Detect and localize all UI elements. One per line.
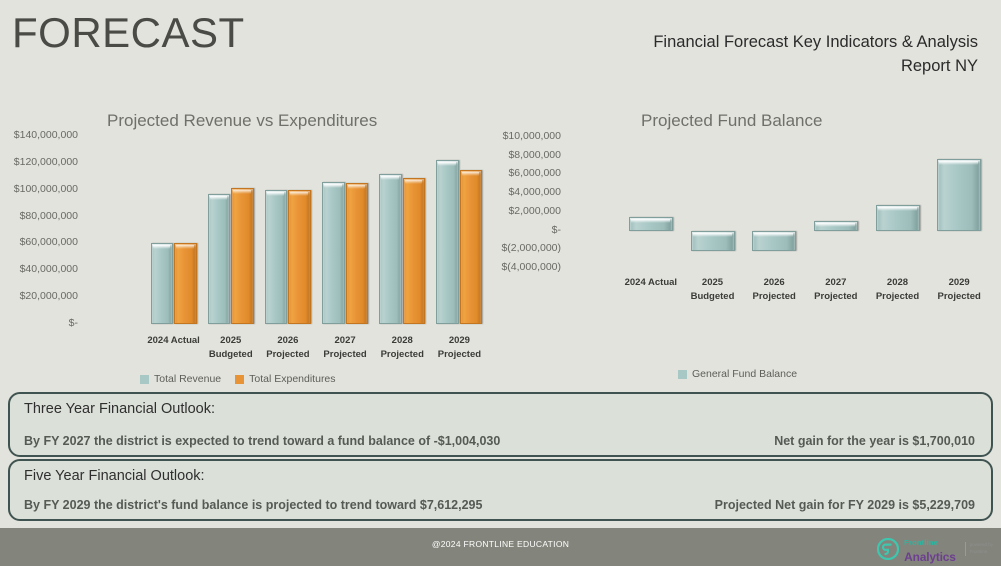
frontline-logo-text: Frontline Analytics — [904, 533, 956, 565]
chart-title-projected-fund-balance: Projected Fund Balance — [641, 111, 822, 131]
bar-general-fund-balance — [937, 159, 981, 230]
bar-general-fund-balance — [814, 221, 858, 230]
bar-total-revenue — [151, 243, 174, 324]
dashboard-page: FORECAST Financial Forecast Key Indicato… — [0, 0, 1001, 566]
bar-total-expenditures — [460, 170, 483, 324]
chart2-yaxis-tick: $- — [483, 224, 561, 236]
chart2-yaxis-tick: $4,000,000 — [483, 186, 561, 198]
chart1-yaxis-tick: $80,000,000 — [0, 210, 78, 222]
chart1-yaxis-tick: $20,000,000 — [0, 290, 78, 302]
three-year-outlook-box: Three Year Financial Outlook: By FY 2027… — [8, 392, 993, 457]
frontline-analytics-logo: Frontline Analytics powered byFrontline — [877, 533, 993, 565]
chart2-yaxis-tick: $8,000,000 — [483, 149, 561, 161]
five-year-outlook-net-gain: Projected Net gain for FY 2029 is $5,229… — [715, 498, 975, 512]
footer-copyright: @2024 FRONTLINE EDUCATION — [0, 539, 1001, 549]
chart1-yaxis-tick: $- — [0, 317, 78, 329]
chart1-yaxis-tick: $40,000,000 — [0, 263, 78, 275]
category-label: 2025Budgeted — [202, 334, 259, 362]
bar-total-expenditures — [403, 178, 426, 324]
frontline-logo-icon — [877, 538, 899, 560]
bar-general-fund-balance — [691, 231, 735, 252]
chart2-yaxis-tick: $(4,000,000) — [483, 261, 561, 273]
legend-label: General Fund Balance — [692, 368, 797, 380]
chart2-yaxis-tick: $(2,000,000) — [483, 242, 561, 254]
legend-item-total-revenue[interactable]: Total Revenue — [140, 373, 221, 385]
legend-label: Total Revenue — [154, 373, 221, 385]
legend-swatch-icon — [235, 375, 244, 384]
five-year-outlook-statement: By FY 2029 the district's fund balance i… — [24, 498, 482, 512]
legend-label: Total Expenditures — [249, 373, 335, 385]
chart2-yaxis-tick: $2,000,000 — [483, 205, 561, 217]
category-label: 2029Projected — [928, 276, 990, 304]
bar-total-expenditures — [174, 243, 197, 324]
legend-swatch-icon — [140, 375, 149, 384]
chart-title-revenue-vs-expenditures: Projected Revenue vs Expenditures — [107, 111, 377, 131]
bar-total-revenue — [436, 160, 459, 324]
chart1-legend: Total RevenueTotal Expenditures — [140, 373, 336, 385]
bar-total-expenditures — [288, 190, 311, 324]
category-label: 2028Projected — [867, 276, 929, 304]
chart1-yaxis-tick: $60,000,000 — [0, 236, 78, 248]
five-year-outlook-box: Five Year Financial Outlook: By FY 2029 … — [8, 459, 993, 521]
header-subtitle-line2: Report NY — [653, 55, 978, 79]
five-year-outlook-heading: Five Year Financial Outlook: — [24, 468, 205, 484]
header-subtitle: Financial Forecast Key Indicators & Anal… — [653, 31, 978, 79]
chart1-yaxis-tick: $120,000,000 — [0, 156, 78, 168]
bar-total-revenue — [322, 182, 345, 324]
chart2-yaxis-tick: $6,000,000 — [483, 167, 561, 179]
category-label: 2026Projected — [743, 276, 805, 304]
footer-bar: @2024 FRONTLINE EDUCATION Frontline Anal… — [0, 528, 1001, 566]
chart2-yaxis-tick: $10,000,000 — [483, 130, 561, 142]
category-label: 2024 Actual — [145, 334, 202, 348]
bar-total-expenditures — [231, 188, 254, 324]
header-subtitle-line1: Financial Forecast Key Indicators & Anal… — [653, 31, 978, 55]
chart1-yaxis-tick: $100,000,000 — [0, 183, 78, 195]
three-year-outlook-statement: By FY 2027 the district is expected to t… — [24, 434, 500, 448]
three-year-outlook-heading: Three Year Financial Outlook: — [24, 401, 215, 417]
legend-swatch-icon — [678, 370, 687, 379]
category-label: 2027Projected — [317, 334, 374, 362]
bar-general-fund-balance — [629, 217, 673, 231]
analytics-wordmark: Analytics — [904, 550, 956, 564]
category-label: 2029Projected — [431, 334, 488, 362]
category-label: 2027Projected — [805, 276, 867, 304]
frontline-wordmark: Frontline — [904, 538, 938, 547]
legend-item-general-fund-balance[interactable]: General Fund Balance — [678, 368, 797, 380]
powered-by-label: powered byFrontline — [965, 542, 993, 556]
category-label: 2028Projected — [374, 334, 431, 362]
legend-item-total-expenditures[interactable]: Total Expenditures — [235, 373, 335, 385]
bar-general-fund-balance — [752, 231, 796, 252]
chart2-legend: General Fund Balance — [678, 368, 797, 380]
bar-general-fund-balance — [876, 205, 920, 230]
chart1-yaxis-tick: $140,000,000 — [0, 129, 78, 141]
category-label: 2024 Actual — [620, 276, 682, 290]
page-title: FORECAST — [12, 12, 245, 54]
bar-total-revenue — [379, 174, 402, 324]
category-label: 2025Budgeted — [682, 276, 744, 304]
bar-total-revenue — [208, 194, 231, 324]
category-label: 2026Projected — [259, 334, 316, 362]
three-year-outlook-net-gain: Net gain for the year is $1,700,010 — [774, 434, 975, 448]
bar-total-expenditures — [346, 183, 369, 324]
bar-total-revenue — [265, 190, 288, 324]
